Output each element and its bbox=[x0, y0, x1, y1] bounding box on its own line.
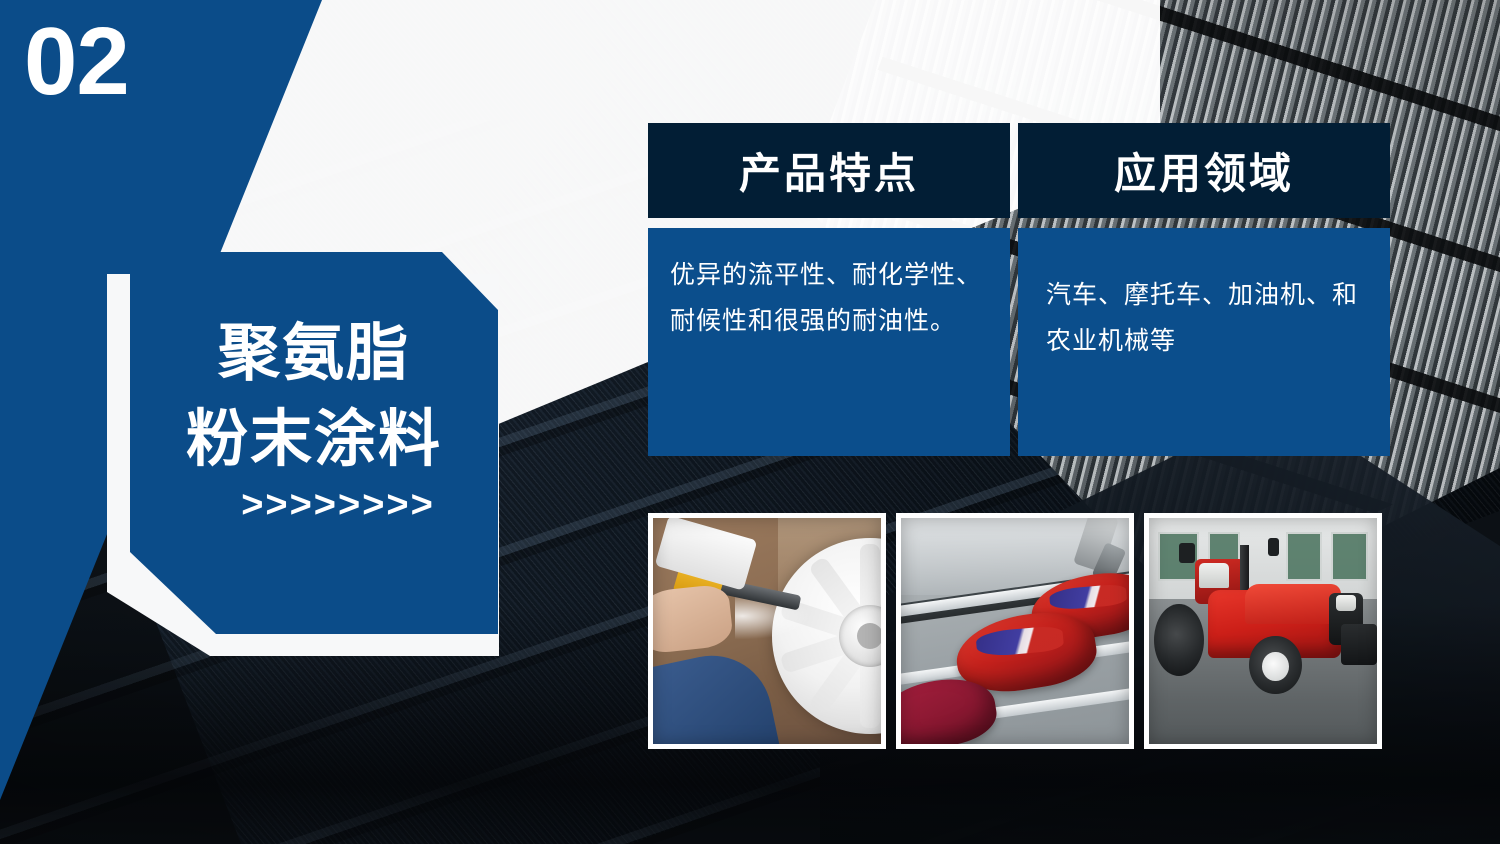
column-body-application-fields: 汽车、摩托车、加油机、和农业机械等 bbox=[1018, 228, 1390, 456]
title-line-2: 粉末涂料 bbox=[130, 396, 498, 482]
column-body-product-features: 优异的流平性、耐化学性、耐候性和很强的耐油性。 bbox=[648, 228, 1010, 456]
chevron-arrows-icon: >>>>>>>> bbox=[130, 484, 498, 527]
column-product-features: 产品特点 优异的流平性、耐化学性、耐候性和很强的耐油性。 bbox=[648, 123, 1010, 456]
title-card: 聚氨脂 粉末涂料 >>>>>>>> bbox=[130, 252, 498, 634]
column-heading-application-fields: 应用领域 bbox=[1018, 123, 1390, 218]
photo-motorcycle-tanks-line bbox=[896, 513, 1134, 749]
section-number: 02 bbox=[24, 12, 129, 113]
title-text-block: 聚氨脂 粉末涂料 bbox=[130, 310, 498, 481]
photo-red-tractor bbox=[1144, 513, 1382, 749]
title-line-1: 聚氨脂 bbox=[130, 310, 498, 396]
photo-powder-coating-wheel bbox=[648, 513, 886, 749]
slide-canvas: 02 聚氨脂 粉末涂料 >>>>>>>> 产品特点 优异的流平性、耐化学性、耐候… bbox=[0, 0, 1500, 844]
column-application-fields: 应用领域 汽车、摩托车、加油机、和农业机械等 bbox=[1018, 123, 1390, 456]
photo-strip bbox=[648, 513, 1382, 749]
column-heading-product-features: 产品特点 bbox=[648, 123, 1010, 218]
